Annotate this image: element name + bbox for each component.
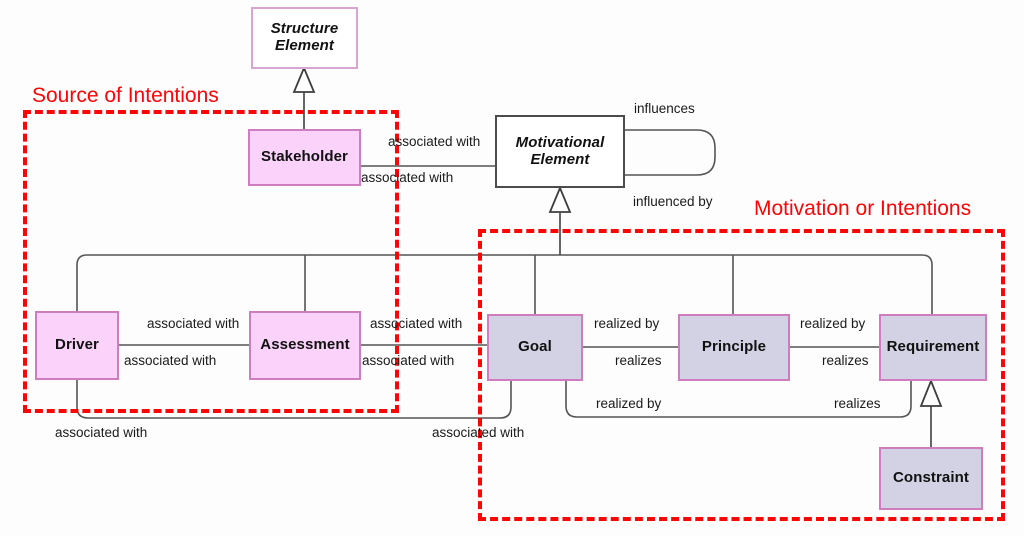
node-assessment-label: Assessment — [260, 337, 349, 354]
edge-label-goal-req-realizes: realizes — [834, 396, 881, 411]
edge-label-driver-goal-left: associated with — [55, 425, 147, 440]
node-motivational-element[interactable]: Motivational Element — [495, 115, 625, 188]
node-driver-label: Driver — [55, 337, 99, 354]
node-structure-element[interactable]: Structure Element — [251, 7, 358, 69]
diagram-canvas: Source of Intentions Motivation or Inten… — [0, 0, 1024, 536]
node-principle-label: Principle — [702, 339, 766, 356]
edge-label-influenced-by: influenced by — [633, 194, 713, 209]
node-requirement[interactable]: Requirement — [879, 314, 987, 381]
node-structure-element-label-line2: Element — [271, 38, 339, 55]
edge-label-assessment-goal-above: associated with — [370, 316, 462, 331]
node-assessment[interactable]: Assessment — [249, 311, 361, 380]
edge-label-stakeholder-me-below: associated with — [361, 170, 453, 185]
self-association-motivational-element — [625, 130, 715, 175]
node-goal-label: Goal — [518, 339, 552, 356]
node-constraint[interactable]: Constraint — [879, 447, 983, 510]
edge-label-influences: influences — [634, 101, 695, 116]
edge-label-driver-assessment-below: associated with — [124, 353, 216, 368]
edge-label-principle-req-above: realized by — [800, 316, 865, 331]
region-label-motivation-or-intentions: Motivation or Intentions — [754, 197, 971, 221]
node-constraint-label: Constraint — [893, 470, 969, 487]
edge-label-principle-req-below: realizes — [822, 353, 869, 368]
node-driver[interactable]: Driver — [35, 311, 119, 380]
edge-label-stakeholder-me-above: associated with — [388, 134, 480, 149]
edge-label-goal-req-realized-by: realized by — [596, 396, 661, 411]
node-motivational-element-label-line1: Motivational — [516, 135, 605, 152]
edge-label-driver-assessment-above: associated with — [147, 316, 239, 331]
region-label-source-of-intentions: Source of Intentions — [32, 84, 219, 108]
edge-label-driver-goal-right: associated with — [432, 425, 524, 440]
edge-label-goal-principle-below: realizes — [615, 353, 662, 368]
node-structure-element-label-line1: Structure — [271, 21, 339, 38]
node-stakeholder-label: Stakeholder — [261, 149, 348, 166]
node-principle[interactable]: Principle — [678, 314, 790, 381]
node-motivational-element-label-line2: Element — [516, 152, 605, 169]
edge-label-assessment-goal-below: associated with — [362, 353, 454, 368]
node-requirement-label: Requirement — [887, 339, 980, 356]
edge-label-goal-principle-above: realized by — [594, 316, 659, 331]
node-goal[interactable]: Goal — [487, 314, 583, 381]
node-stakeholder[interactable]: Stakeholder — [248, 129, 361, 186]
